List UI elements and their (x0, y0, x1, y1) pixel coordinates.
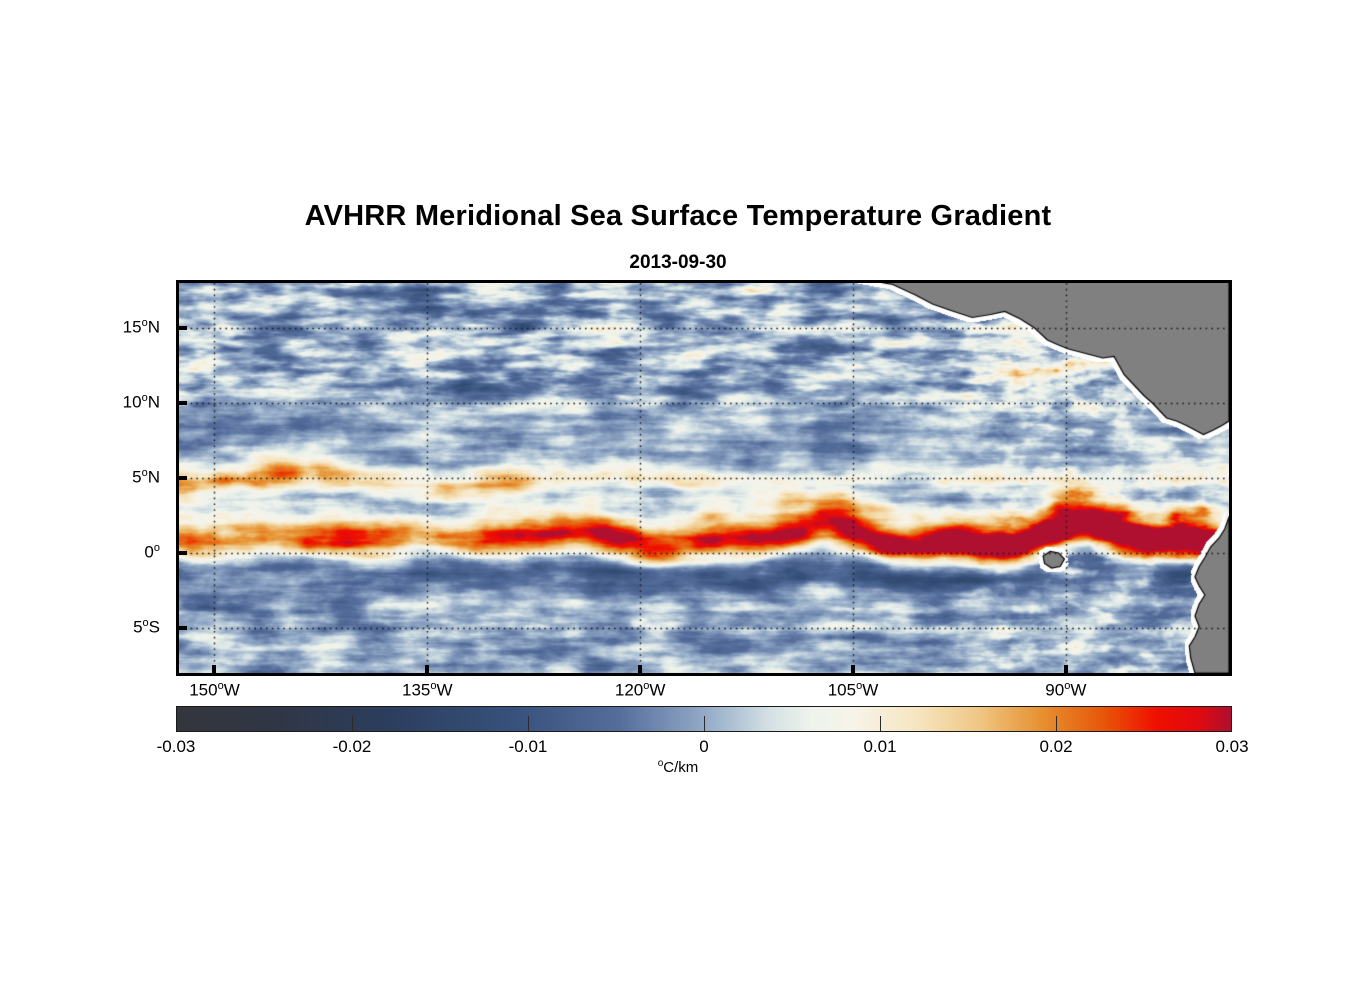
colorbar-tick-mark (1056, 716, 1057, 731)
colorbar-tick-label: -0.03 (116, 737, 236, 757)
x-axis-tick-label: 135oW (367, 680, 487, 701)
colorbar-tick-mark (880, 716, 881, 731)
y-axis-tick-label: 15oN (40, 317, 160, 338)
colorbar-tick-mark (528, 716, 529, 731)
x-axis-tick-mark (425, 665, 429, 676)
colorbar-tick-mark (704, 716, 705, 731)
colorbar-tick-label: 0 (644, 737, 764, 757)
y-axis-tick-mark (176, 551, 187, 555)
y-axis-tick-label: 5oS (40, 617, 160, 638)
colorbar-tick-mark (352, 716, 353, 731)
y-axis-tick-label: 0o (40, 542, 160, 563)
x-axis-tick-label: 105oW (793, 680, 913, 701)
y-axis-tick-mark (176, 626, 187, 630)
page-title: AVHRR Meridional Sea Surface Temperature… (0, 200, 1356, 233)
colorbar-unit-label: oC/km (0, 758, 1356, 776)
x-axis-tick-mark (851, 665, 855, 676)
x-axis-tick-label: 120oW (580, 680, 700, 701)
figure-root: AVHRR Meridional Sea Surface Temperature… (0, 0, 1356, 1000)
y-axis-tick-mark (176, 401, 187, 405)
y-axis-tick-label: 5oN (40, 467, 160, 488)
sst-gradient-heatmap (179, 283, 1229, 673)
x-axis-tick-mark (1064, 665, 1068, 676)
x-axis-tick-mark (638, 665, 642, 676)
colorbar-tick-label: -0.01 (468, 737, 588, 757)
y-axis-tick-label: 10oN (40, 392, 160, 413)
x-axis-tick-label: 150oW (154, 680, 274, 701)
x-axis-tick-mark (212, 665, 216, 676)
y-axis-tick-mark (176, 476, 187, 480)
figure-subtitle: 2013-09-30 (0, 252, 1356, 274)
colorbar-tick-label: 0.03 (1172, 737, 1292, 757)
x-axis-tick-label: 90oW (1006, 680, 1126, 701)
colorbar-tick-label: 0.01 (820, 737, 940, 757)
colorbar-tick-label: -0.02 (292, 737, 412, 757)
map-plot-area (176, 280, 1232, 676)
colorbar-tick-label: 0.02 (996, 737, 1116, 757)
y-axis-tick-mark (176, 326, 187, 330)
